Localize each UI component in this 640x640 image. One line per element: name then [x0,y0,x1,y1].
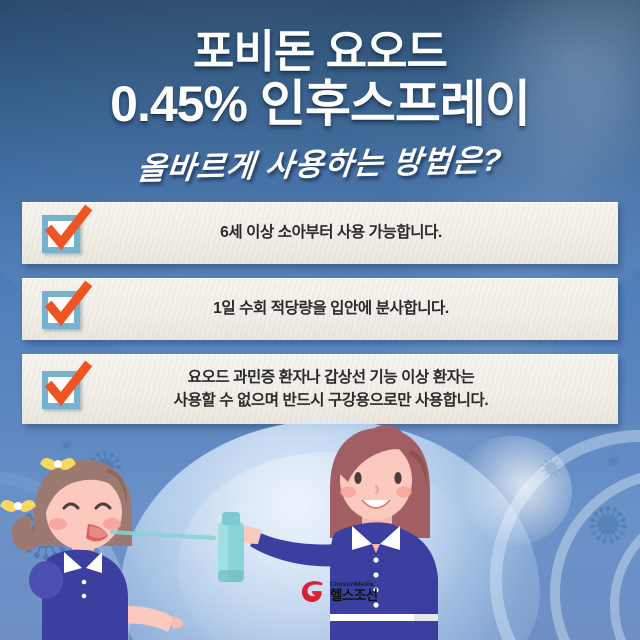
instruction-card: 6세 이상 소아부터 사용 가능합니다. [22,202,618,264]
instruction-text: 요오드 과민증 환자나 갑상선 기능 이상 환자는 사용할 수 없으며 반드시 … [88,367,604,412]
logo-korean-text: 헬스조선 [330,589,378,603]
mother-figure [223,425,438,640]
checkbox-checked [42,289,88,331]
check-icon [44,365,92,411]
girl-figure [0,458,214,640]
instruction-text: 6세 이상 소아부터 사용 가능합니다. [88,222,604,244]
checkbox-checked [42,213,88,255]
title-line-1: 포비돈 요오드 [0,28,640,76]
check-icon [44,209,92,255]
poster-header: 포비돈 요오드 0.45% 인후스프레이 올바르게 사용하는 방법은? [0,28,640,184]
chosun-media-swoosh-icon [300,580,326,604]
check-icon [44,285,92,331]
poster-subtitle: 올바르게 사용하는 방법은? [0,131,640,192]
instruction-card-list: 6세 이상 소아부터 사용 가능합니다. 1일 수회 적당량을 입안에 분사합니… [22,202,618,438]
hair-bow-side [0,500,36,512]
logo-watermark: ChosunMedia 헬스조선 [300,580,378,604]
instruction-card: 1일 수회 적당량을 입안에 분사합니다. [22,278,618,340]
title-line-2: 0.45% 인후스프레이 [0,78,640,131]
spray-bottle [200,512,244,582]
instruction-text-line-2: 사용할 수 없으며 반드시 구강용으로만 사용합니다. [88,390,574,412]
illustration-scene [0,420,640,640]
instruction-text: 1일 수회 적당량을 입안에 분사합니다. [88,298,604,320]
instruction-text-line-1: 요오드 과민증 환자나 갑상선 기능 이상 환자는 [88,367,574,389]
instruction-card: 요오드 과민증 환자나 갑상선 기능 이상 환자는 사용할 수 없으며 반드시 … [22,354,618,424]
infographic-poster: 포비돈 요오드 0.45% 인후스프레이 올바르게 사용하는 방법은? 6세 이… [0,0,640,640]
checkbox-checked [42,369,88,411]
